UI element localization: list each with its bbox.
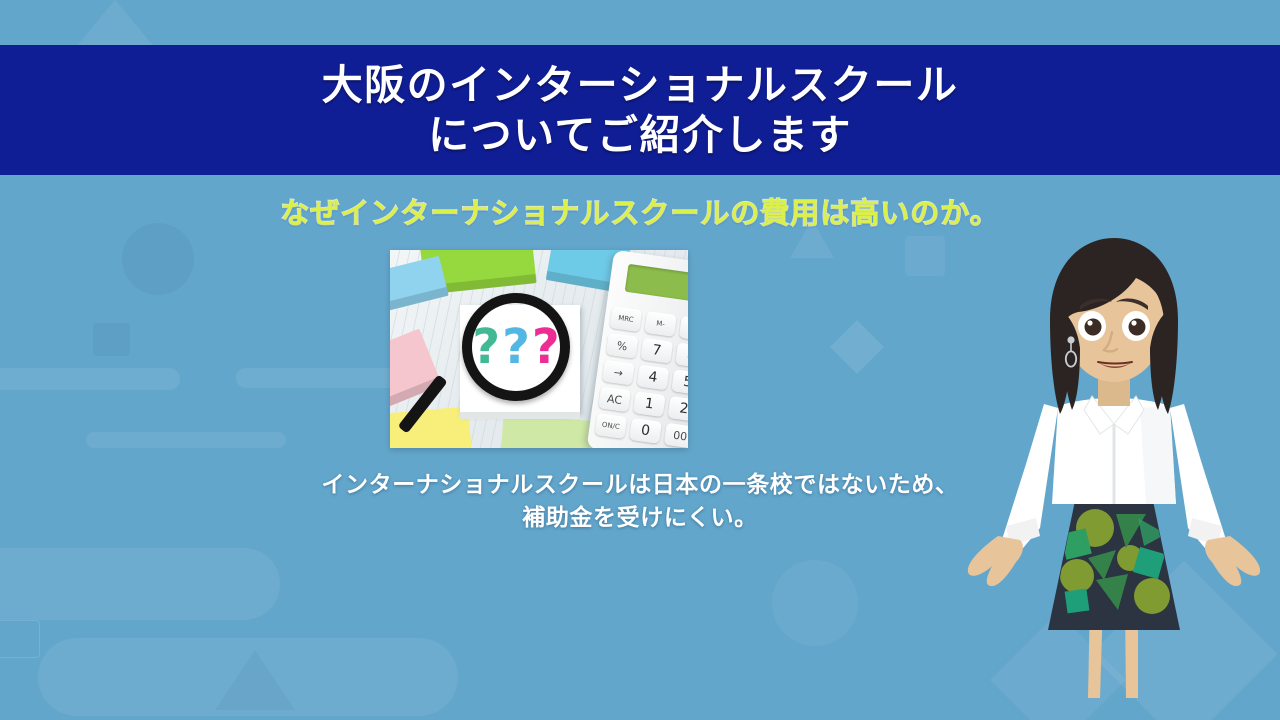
calculator-key: 5 [671, 369, 688, 395]
bg-square-right [905, 236, 945, 276]
calculator-key: → [602, 360, 635, 386]
sticky-note-lightgreen [501, 415, 600, 448]
bg-triangle-bottom-left [215, 650, 295, 710]
header-title-band: 大阪のインターショナルスクール についてご紹介します [0, 45, 1280, 175]
calculator-key: ON/C [594, 413, 627, 439]
caption-line-1: インターナショナルスクールは日本の一条校ではないため、 [0, 468, 1280, 501]
calculator-key: M- [644, 311, 677, 337]
calculator-keys: MRC M- M+ % 7 8 → 4 5 AC 1 2 ON/C 0 00 [594, 306, 688, 448]
subtitle-question: なぜインターナショナルスクールの費用は高いのか。 [0, 190, 1280, 232]
eye-left-highlight [1087, 320, 1092, 325]
hand-left [968, 536, 1023, 586]
calculator-key: MRC [610, 306, 643, 332]
bg-circle-left [122, 223, 194, 295]
eye-right-iris [1129, 319, 1146, 336]
illustration-photo: ? ? ? MRC M- M+ % 7 8 → 4 5 AC [390, 250, 688, 448]
caption-line-2: 補助金を受けにくい。 [0, 501, 1280, 534]
eye-right-highlight [1131, 320, 1136, 325]
calculator-key: % [606, 333, 639, 359]
video-slide: 大阪のインターショナルスクール についてご紹介します なぜインターナショナルスク… [0, 0, 1280, 720]
calculator-key: 7 [640, 338, 673, 364]
bg-diamond-right-upper [830, 320, 884, 374]
calculator-key: 2 [668, 396, 688, 422]
calculator-key: 8 [675, 343, 688, 369]
bg-pill-bottom-large [0, 548, 280, 620]
caption-text: インターナショナルスクールは日本の一条校ではないため、 補助金を受けにくい。 [0, 468, 1280, 535]
bg-circle-right [772, 560, 858, 646]
calculator-key: 1 [633, 391, 666, 417]
bg-triangle-top-left [75, 0, 155, 48]
bg-square-left [93, 323, 130, 356]
calculator-screen [625, 264, 688, 303]
magnifier-lens-icon [462, 293, 570, 401]
bg-square-bottom-left [0, 620, 40, 658]
calculator-key: 00 [664, 423, 688, 448]
page-title-line-1: 大阪のインターショナルスクール [322, 60, 959, 110]
bg-pill-left-lower [86, 432, 286, 448]
eye-left-iris [1085, 319, 1102, 336]
calculator-key: 4 [637, 364, 670, 390]
calculator-key: AC [598, 386, 631, 412]
page-title-line-2: についてご紹介します [428, 110, 852, 160]
calculator-key: 0 [629, 418, 662, 444]
hand-right [1205, 536, 1260, 586]
bg-pill-left-upper [0, 368, 180, 390]
calculator-key: M+ [679, 316, 688, 342]
